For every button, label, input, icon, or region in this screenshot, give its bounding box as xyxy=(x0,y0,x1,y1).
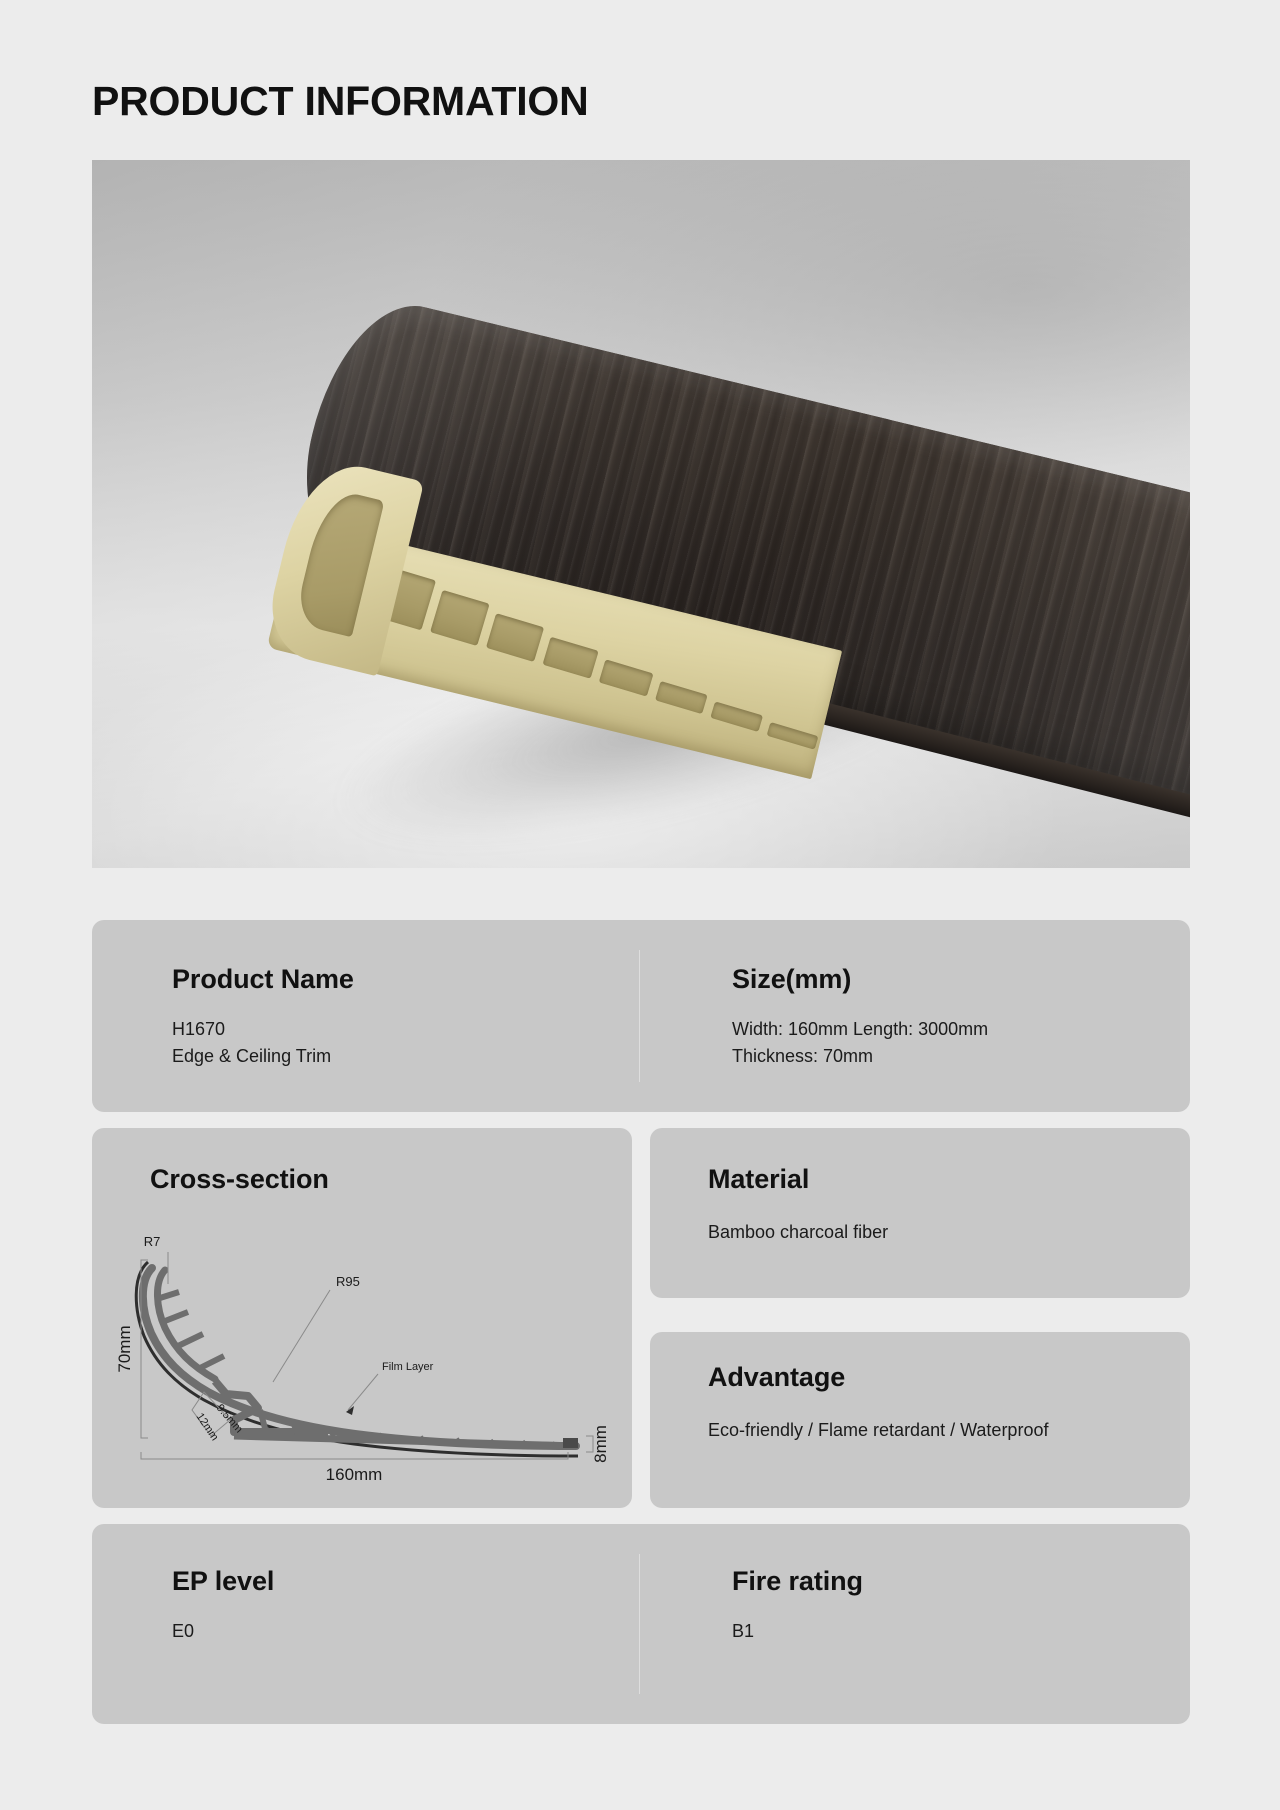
web xyxy=(378,1434,380,1438)
chamber xyxy=(655,681,708,714)
r95-leader xyxy=(273,1290,330,1382)
label-thickness-12: 12mm xyxy=(194,1411,221,1443)
rib xyxy=(165,1312,188,1321)
product-name-title: Product Name xyxy=(172,964,672,995)
advantage-title: Advantage xyxy=(708,1362,845,1393)
size-line-1: Width: 160mm Length: 3000mm xyxy=(732,1016,1152,1043)
chamber xyxy=(711,701,764,732)
size-section: Size(mm) Width: 160mm Length: 3000mm Thi… xyxy=(732,964,1152,1069)
rib xyxy=(178,1334,203,1346)
ep-level-title: EP level xyxy=(172,1566,672,1597)
advantage-value: Eco-friendly / Flame retardant / Waterpr… xyxy=(708,1417,1128,1444)
fire-rating-value: B1 xyxy=(732,1618,1152,1645)
product-name-section: Product Name H1670 Edge & Ceiling Trim xyxy=(172,964,672,1069)
label-r7: R7 xyxy=(144,1234,161,1249)
profile-tip xyxy=(563,1438,578,1448)
cross-section-diagram: R7 R95 Film Layer 9.5mm 12mm 70mm 160mm … xyxy=(108,1224,618,1494)
card-name-size: Product Name H1670 Edge & Ceiling Trim S… xyxy=(92,920,1190,1112)
bullnose-cavity xyxy=(293,487,384,637)
card-cross-section: Cross-section xyxy=(92,1128,632,1508)
label-thickness-8mm: 8mm xyxy=(591,1425,610,1463)
chamber xyxy=(543,637,599,679)
chamber xyxy=(430,590,490,646)
ep-level-value: E0 xyxy=(172,1618,672,1645)
card-ep-fire: EP level E0 Fire rating B1 xyxy=(92,1524,1190,1724)
size-line-2: Thickness: 70mm xyxy=(732,1043,1152,1070)
web xyxy=(420,1437,422,1440)
cross-section-svg: R7 R95 Film Layer 9.5mm 12mm 70mm 160mm … xyxy=(108,1224,618,1494)
web xyxy=(490,1441,492,1443)
page-title: PRODUCT INFORMATION xyxy=(92,78,589,125)
chamber xyxy=(486,613,544,662)
label-width-160mm: 160mm xyxy=(326,1465,383,1484)
label-height-70mm: 70mm xyxy=(115,1325,134,1372)
web xyxy=(522,1442,524,1444)
bottom-face xyxy=(234,1436,578,1446)
fire-rating-title: Fire rating xyxy=(732,1566,1152,1597)
card-advantage: Advantage Eco-friendly / Flame retardant… xyxy=(650,1332,1190,1508)
product-description: Edge & Ceiling Trim xyxy=(172,1043,672,1070)
product-code: H1670 xyxy=(172,1016,672,1043)
material-title: Material xyxy=(708,1164,809,1195)
ep-level-section: EP level E0 xyxy=(172,1566,672,1645)
cross-section-title: Cross-section xyxy=(150,1164,329,1195)
material-value: Bamboo charcoal fiber xyxy=(708,1219,888,1246)
fire-rating-section: Fire rating B1 xyxy=(732,1566,1152,1645)
product-information-page: PRODUCT INFORMATION xyxy=(0,0,1280,1810)
rib xyxy=(198,1356,224,1369)
film-layer-leader xyxy=(348,1374,378,1410)
label-r95: R95 xyxy=(336,1274,360,1289)
size-title: Size(mm) xyxy=(732,964,1152,995)
chamber xyxy=(599,659,654,696)
card-material: Material Bamboo charcoal fiber xyxy=(650,1128,1190,1298)
chamber xyxy=(767,722,819,750)
web xyxy=(456,1439,458,1442)
product-photo xyxy=(92,160,1190,868)
web xyxy=(330,1428,334,1436)
rib xyxy=(160,1292,179,1298)
web xyxy=(552,1444,554,1445)
label-film-layer: Film Layer xyxy=(382,1361,434,1373)
